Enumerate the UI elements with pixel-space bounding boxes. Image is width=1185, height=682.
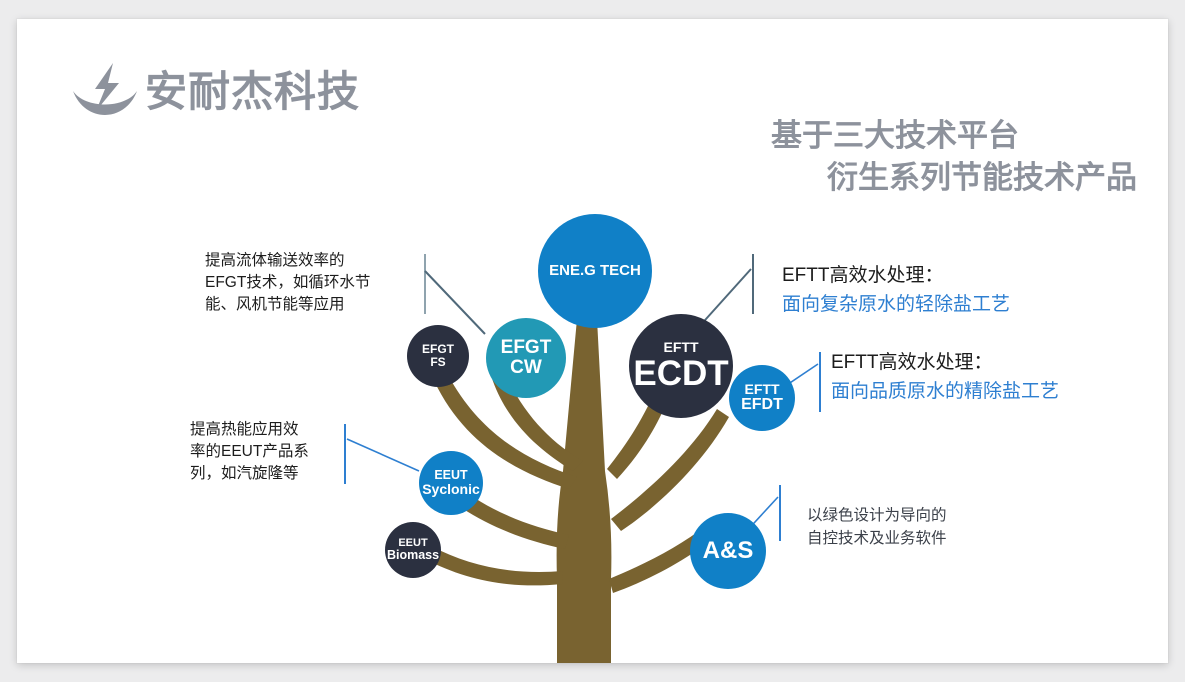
- node-eeut-syclonic[interactable]: EEUT Syclonic: [419, 451, 483, 515]
- annotation-ecdt-note-detail: 面向复杂原水的轻除盐工艺: [782, 291, 1122, 320]
- node-eftt-efdt-sub: EFTT: [745, 382, 780, 397]
- annotation-ecdt-note-title: EFTT高效水处理：: [782, 262, 1122, 291]
- node-as[interactable]: A&S: [690, 513, 766, 589]
- node-efgt-fs[interactable]: EFGT FS: [407, 325, 469, 387]
- annotation-efdt-note: EFTT高效水处理： 面向品质原水的精除盐工艺: [831, 349, 1161, 406]
- node-eftt-efdt-label: EFDT: [741, 397, 783, 414]
- node-eftt-ecdt-label: ECDT: [633, 355, 728, 392]
- annotation-eeut-note-line2: 率的EEUT产品系: [190, 441, 350, 463]
- annotation-efgt-note-line2: EFGT技术，如循环水节: [205, 272, 405, 294]
- annotation-as-note-detail: 自控技术及业务软件: [807, 527, 1057, 550]
- node-efgt-cw-label: CW: [510, 358, 542, 378]
- annotation-ecdt-note: EFTT高效水处理： 面向复杂原水的轻除盐工艺: [782, 262, 1122, 319]
- annotation-efgt-note: 提高流体输送效率的 EFGT技术，如循环水节 能、风机节能等应用: [205, 250, 405, 316]
- node-eeut-syclonic-sub: EEUT: [434, 469, 467, 482]
- tree-diagram-graphic: [17, 19, 1168, 663]
- annotation-eeut-note-line1: 提高热能应用效: [190, 419, 350, 441]
- node-efgt-cw-sub: EFGT: [501, 338, 552, 358]
- node-efgt-cw[interactable]: EFGT CW: [486, 318, 566, 398]
- node-as-label: A&S: [703, 538, 754, 563]
- node-efgt-fs-label: FS: [430, 356, 445, 369]
- annotation-efgt-note-line1: 提高流体输送效率的: [205, 250, 405, 272]
- annotation-eeut-note-line3: 列，如汽旋隆等: [190, 463, 350, 485]
- annotation-efdt-note-title: EFTT高效水处理：: [831, 349, 1161, 378]
- annotation-efgt-note-line3: 能、风机节能等应用: [205, 294, 405, 316]
- annotation-as-note: 以绿色设计为导向的 自控技术及业务软件: [807, 504, 1057, 551]
- node-eeut-biomass-label: Biomass: [387, 549, 439, 562]
- node-eeut-biomass[interactable]: EEUT Biomass: [385, 522, 441, 578]
- node-eftt-ecdt[interactable]: EFTT ECDT: [629, 314, 733, 418]
- node-eeut-syclonic-label: Syclonic: [422, 482, 480, 497]
- annotation-as-note-title: 以绿色设计为导向的: [807, 504, 1057, 527]
- annotation-eeut-note: 提高热能应用效 率的EEUT产品系 列，如汽旋隆等: [190, 419, 350, 485]
- slide-stage: 安耐杰科技 基于三大技术平台 衍生系列节能技术产品: [0, 0, 1185, 682]
- node-eftt-ecdt-sub: EFTT: [664, 340, 699, 355]
- node-eftt-efdt[interactable]: EFTT EFDT: [729, 365, 795, 431]
- node-eneg-tech[interactable]: ENE.G TECH: [538, 214, 652, 328]
- slide-canvas: 安耐杰科技 基于三大技术平台 衍生系列节能技术产品: [17, 19, 1168, 663]
- node-eneg-tech-label: ENE.G TECH: [549, 263, 641, 279]
- annotation-efdt-note-detail: 面向品质原水的精除盐工艺: [831, 378, 1161, 407]
